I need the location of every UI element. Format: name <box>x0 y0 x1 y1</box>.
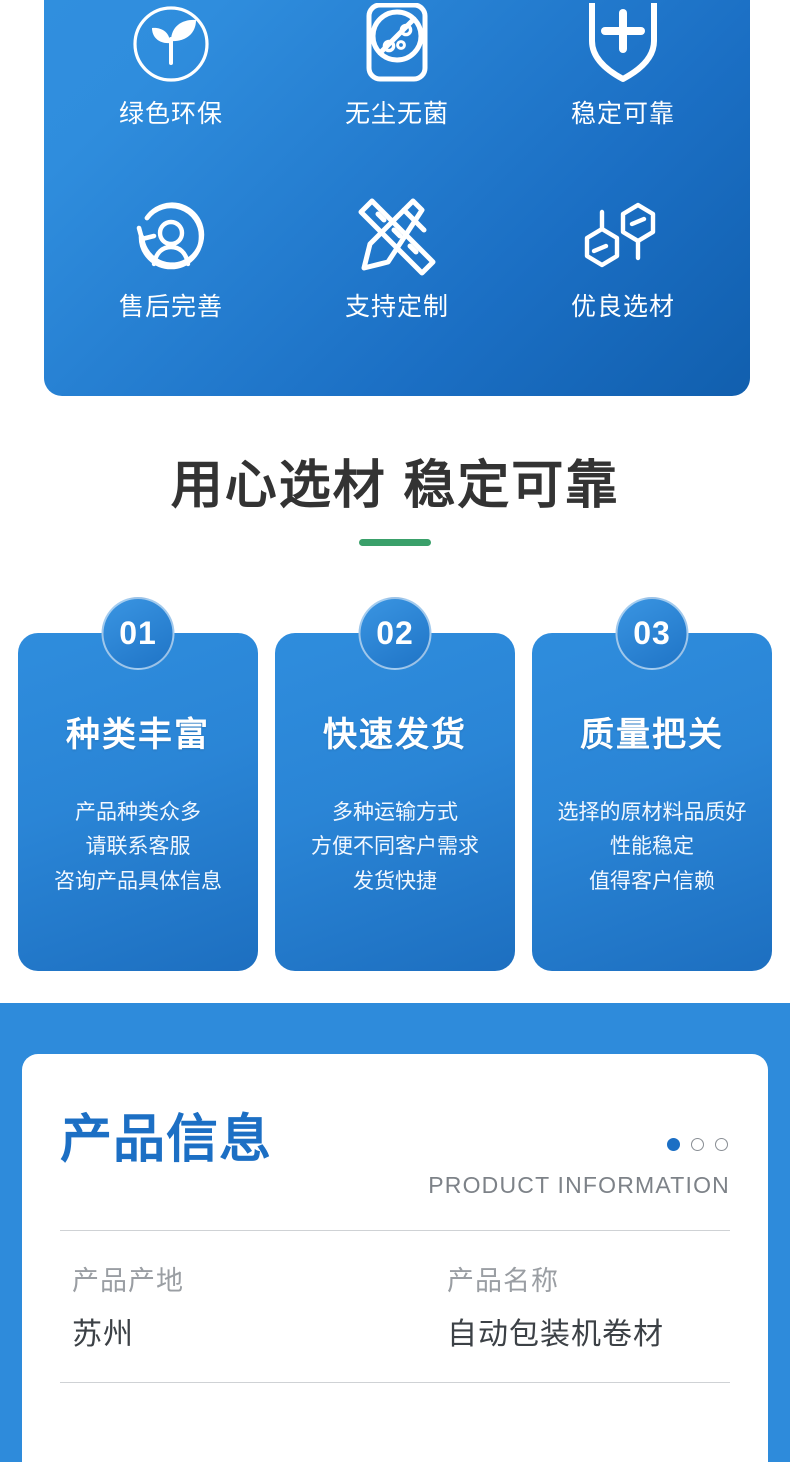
card-number-badge: 02 <box>359 597 432 670</box>
spec-label: 产品产地 <box>72 1261 395 1302</box>
card-body-line: 选择的原材料品质好 <box>540 796 764 831</box>
card-title: 种类丰富 <box>18 715 258 756</box>
carousel-dot-active[interactable] <box>667 1138 680 1151</box>
advantage-cards-section: 01 种类丰富 产品种类众多 请联系客服 咨询产品具体信息 02 快速发货 多种… <box>0 598 790 1003</box>
card-body-line: 产品种类众多 <box>26 796 250 831</box>
feature-label: 售后完善 <box>119 295 223 320</box>
product-information-title: 产品信息 <box>60 1114 272 1166</box>
feature-label: 优良选材 <box>571 295 675 320</box>
spec-cell-origin: 产品产地 苏州 <box>60 1261 395 1356</box>
shield-plus-icon <box>581 2 665 86</box>
section-title: 用心选材 稳定可靠 <box>0 454 790 519</box>
feature-label: 绿色环保 <box>119 102 223 127</box>
spec-row: 产品产地 苏州 产品名称 自动包装机卷材 <box>60 1231 730 1382</box>
carousel-dot[interactable] <box>715 1138 728 1151</box>
card-title: 快速发货 <box>275 715 515 756</box>
card-body-line: 咨询产品具体信息 <box>26 865 250 900</box>
card-body-line: 方便不同客户需求 <box>283 830 507 865</box>
card-body-line: 值得客户信赖 <box>540 865 764 900</box>
feature-item-sterile: 无尘无菌 <box>284 0 510 185</box>
product-detail-page: 绿色环保 无尘无菌 <box>0 0 790 1462</box>
features-section: 绿色环保 无尘无菌 <box>0 0 790 430</box>
feature-item-material: 优良选材 <box>510 185 736 378</box>
sprout-circle-icon <box>129 2 213 86</box>
card-body: 产品种类众多 请联系客服 咨询产品具体信息 <box>18 796 258 900</box>
carousel-dots[interactable] <box>667 1138 728 1151</box>
advantage-card[interactable]: 03 质量把关 选择的原材料品质好 性能稳定 值得客户信赖 <box>532 633 772 971</box>
spec-value: 苏州 <box>72 1314 395 1356</box>
product-information-section: 产品信息 PRODUCT INFORMATION 产品产地 苏州 产品名称 自动… <box>0 1003 790 1462</box>
feature-label: 无尘无菌 <box>345 102 449 127</box>
feature-item-reliable: 稳定可靠 <box>510 0 736 185</box>
section-heading: 用心选材 稳定可靠 <box>0 430 790 598</box>
feature-label: 支持定制 <box>345 295 449 320</box>
spec-value: 自动包装机卷材 <box>447 1314 730 1356</box>
molecule-icon <box>581 195 665 279</box>
advantage-card[interactable]: 02 快速发货 多种运输方式 方便不同客户需求 发货快捷 <box>275 633 515 971</box>
feature-item-green: 绿色环保 <box>58 0 284 185</box>
card-body-line: 性能稳定 <box>540 830 764 865</box>
card-number-badge: 01 <box>102 597 175 670</box>
card-body: 多种运输方式 方便不同客户需求 发货快捷 <box>275 796 515 900</box>
feature-label: 稳定可靠 <box>571 102 675 127</box>
feature-item-custom: 支持定制 <box>284 185 510 378</box>
card-body-line: 发货快捷 <box>283 865 507 900</box>
features-grid: 绿色环保 无尘无菌 <box>44 0 750 378</box>
title-underline <box>359 539 431 546</box>
product-information-header: 产品信息 PRODUCT INFORMATION <box>60 1054 730 1230</box>
spec-cell-name: 产品名称 自动包装机卷材 <box>395 1261 730 1356</box>
product-information-subtitle: PRODUCT INFORMATION <box>428 1174 730 1197</box>
card-body-line: 请联系客服 <box>26 830 250 865</box>
advantage-card[interactable]: 01 种类丰富 产品种类众多 请联系客服 咨询产品具体信息 <box>18 633 258 971</box>
carousel-dot[interactable] <box>691 1138 704 1151</box>
divider <box>60 1382 730 1383</box>
spec-label: 产品名称 <box>447 1261 730 1302</box>
features-panel: 绿色环保 无尘无菌 <box>44 0 750 396</box>
card-body: 选择的原材料品质好 性能稳定 值得客户信赖 <box>532 796 772 900</box>
no-germs-icon <box>355 2 439 86</box>
after-sales-icon <box>129 195 213 279</box>
card-body-line: 多种运输方式 <box>283 796 507 831</box>
card-title: 质量把关 <box>532 715 772 756</box>
feature-item-aftersales: 售后完善 <box>58 185 284 378</box>
card-number-badge: 03 <box>616 597 689 670</box>
product-information-card: 产品信息 PRODUCT INFORMATION 产品产地 苏州 产品名称 自动… <box>22 1054 768 1462</box>
pencil-ruler-icon <box>355 195 439 279</box>
advantage-cards-row: 01 种类丰富 产品种类众多 请联系客服 咨询产品具体信息 02 快速发货 多种… <box>18 633 772 971</box>
